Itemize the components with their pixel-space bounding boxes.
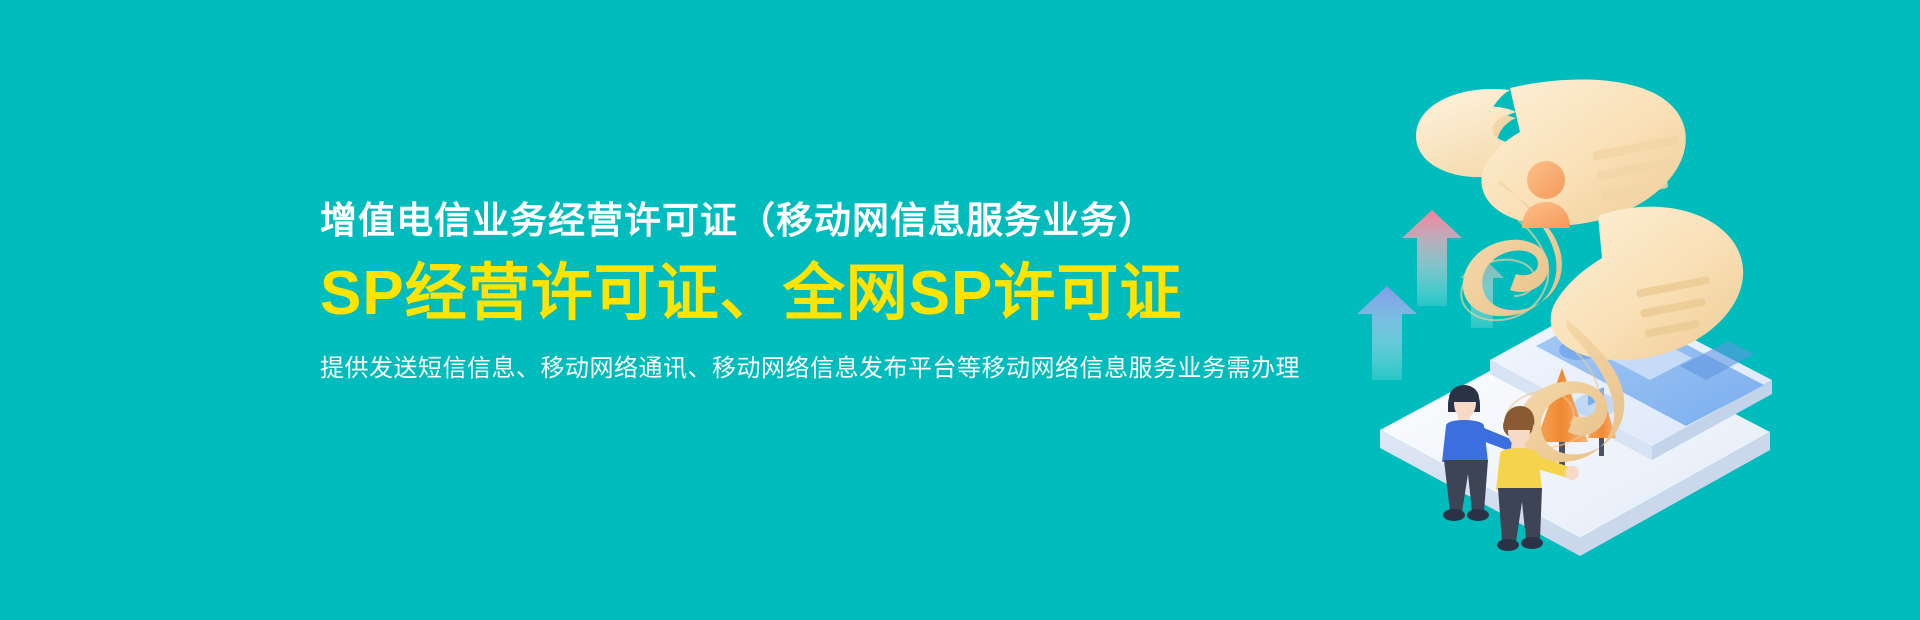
arrow-up-pink bbox=[1402, 210, 1462, 306]
banner-eyebrow: 增值电信业务经营许可证（移动网信息服务业务） bbox=[320, 196, 1300, 246]
arrow-up-blue bbox=[1357, 286, 1417, 380]
banner-illustration bbox=[1340, 60, 1810, 560]
promo-banner: 增值电信业务经营许可证（移动网信息服务业务） SP经营许可证、全网SP许可证 提… bbox=[0, 0, 1920, 620]
banner-text-block: 增值电信业务经营许可证（移动网信息服务业务） SP经营许可证、全网SP许可证 提… bbox=[320, 196, 1300, 386]
banner-subtitle: 提供发送短信信息、移动网络通讯、移动网络信息发布平台等移动网络信息服务业务需办理 bbox=[320, 352, 1300, 386]
banner-headline: SP经营许可证、全网SP许可证 bbox=[320, 256, 1300, 332]
